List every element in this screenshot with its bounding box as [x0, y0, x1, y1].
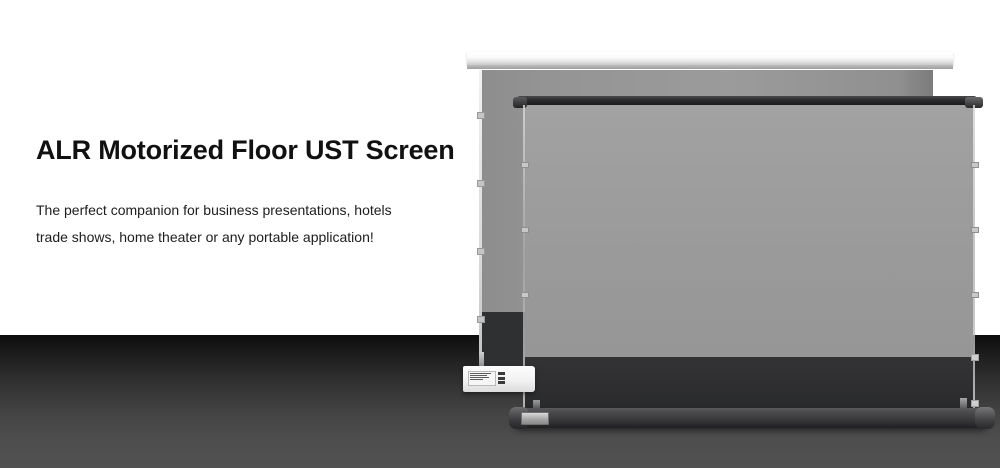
- cable-clip-right-3: [971, 292, 979, 298]
- subcopy-line-2: trade shows, home theater or any portabl…: [36, 224, 456, 251]
- qr-code-sticker: [498, 372, 505, 384]
- roller-brand-badge: [521, 412, 549, 425]
- tension-cable-right: [973, 105, 975, 408]
- cable-clip-left-1: [521, 162, 529, 168]
- copy-block: ALR Motorized Floor UST Screen The perfe…: [36, 133, 456, 251]
- top-valance-rail: [467, 52, 953, 65]
- post-mount-nub-3: [477, 248, 485, 255]
- post-mount-nub-2: [477, 180, 485, 187]
- label-text-line: [470, 379, 483, 380]
- base-connector-stud: [479, 352, 484, 367]
- cable-clip-right-1: [971, 162, 979, 168]
- product-hero-banner: ALR Motorized Floor UST Screen The perfe…: [0, 0, 1000, 468]
- post-mount-nub-4: [477, 316, 485, 323]
- bottom-roller-bar: [513, 408, 989, 428]
- cable-clip-right-2: [971, 227, 979, 233]
- right-edge-nub-2: [971, 400, 979, 407]
- product-spec-label: [468, 371, 496, 386]
- label-text-line: [470, 375, 487, 376]
- right-edge-nub-1: [971, 354, 979, 361]
- screen-top-roller-bar: [517, 96, 977, 105]
- bottom-roller-cap-right: [975, 407, 995, 429]
- alr-screen-surface: [525, 105, 973, 357]
- label-text-line: [470, 373, 491, 374]
- subcopy-text: The perfect companion for business prese…: [36, 167, 456, 251]
- cable-clip-left-3: [521, 292, 529, 298]
- post-mount-nub-1: [477, 112, 485, 119]
- product-image: [455, 52, 985, 442]
- page-title: ALR Motorized Floor UST Screen: [36, 133, 456, 167]
- cable-clip-left-2: [521, 227, 529, 233]
- label-text-line: [470, 377, 489, 378]
- screen-lower-black-band: [525, 357, 973, 408]
- top-valance-rail-lip: [467, 65, 953, 69]
- tension-cable-left: [523, 105, 525, 408]
- subcopy-line-1: The perfect companion for business prese…: [36, 197, 456, 224]
